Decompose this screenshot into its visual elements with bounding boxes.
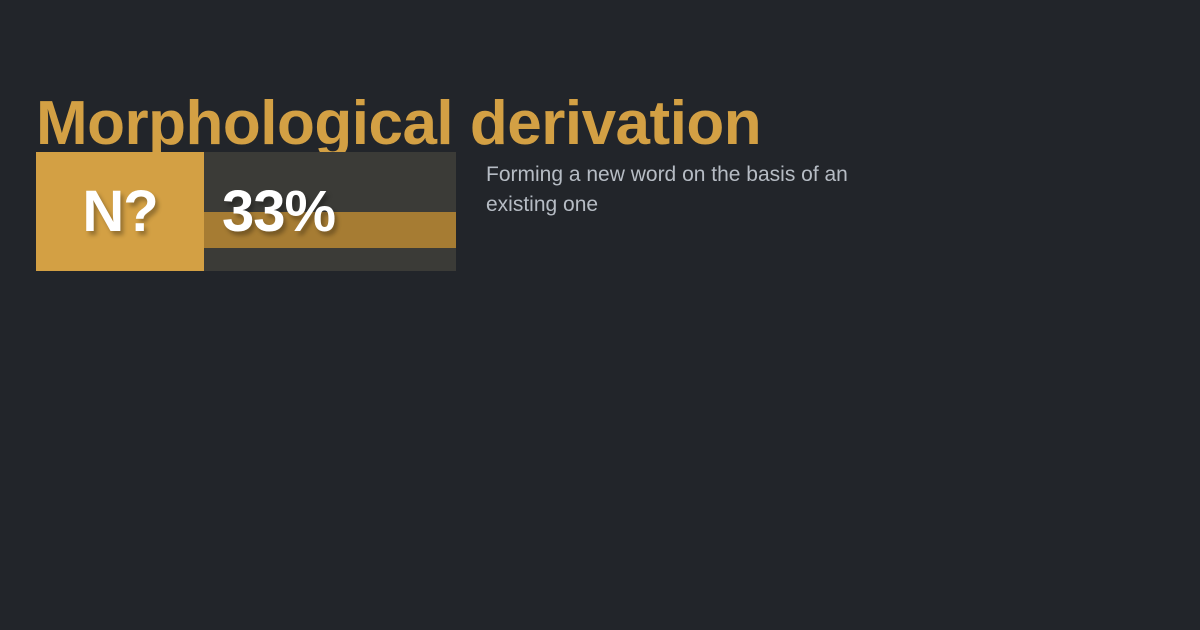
page-title: Morphological derivation <box>36 88 761 160</box>
info-card: Morphological derivation N? 33% Forming … <box>0 0 1200 630</box>
stat-value-panel: 33% <box>204 152 456 271</box>
stat-value-label: 33% <box>204 183 335 241</box>
stat-abbreviation-block: N? <box>36 152 204 271</box>
definition-text: Forming a new word on the basis of an ex… <box>486 160 866 220</box>
stat-badge: N? 33% <box>36 152 456 271</box>
stat-abbreviation-label: N? <box>82 183 157 241</box>
